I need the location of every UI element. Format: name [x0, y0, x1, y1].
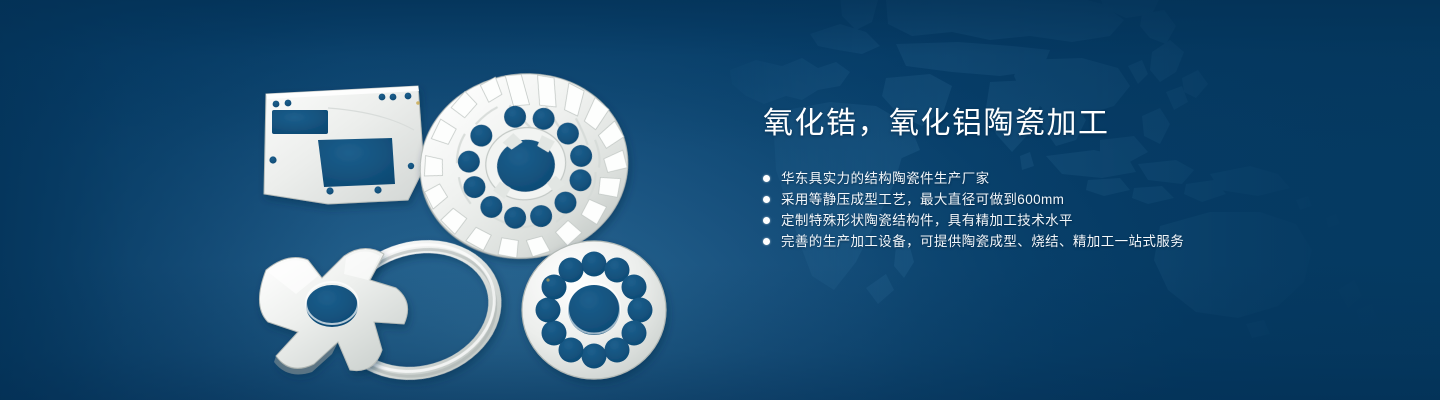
list-item: 华东具实力的结构陶瓷件生产厂家: [763, 168, 1323, 189]
feature-list: 华东具实力的结构陶瓷件生产厂家 采用等静压成型工艺，最大直径可做到600mm 定…: [763, 168, 1323, 252]
bullet-dot-icon: [763, 217, 770, 224]
ceramic-perforated-disc: [522, 241, 666, 381]
list-item-label: 完善的生产加工设备，可提供陶瓷成型、烧结、精加工一站式服务: [781, 231, 1184, 252]
ceramic-vaned-impeller-disc: [408, 60, 640, 271]
bullet-dot-icon: [763, 175, 770, 182]
ceramic-flat-plate: [264, 86, 424, 204]
ceramic-cross-shaped-part: [259, 248, 407, 374]
list-item-label: 华东具实力的结构陶瓷件生产厂家: [781, 168, 990, 189]
bullet-dot-icon: [763, 238, 770, 245]
list-item: 完善的生产加工设备，可提供陶瓷成型、烧结、精加工一站式服务: [763, 231, 1323, 252]
list-item: 采用等静压成型工艺，最大直径可做到600mm: [763, 189, 1323, 210]
page-title: 氧化锆，氧化铝陶瓷加工: [763, 104, 1323, 144]
list-item: 定制特殊形状陶瓷结构件，具有精加工技术水平: [763, 210, 1323, 231]
banner-copy: 氧化锆，氧化铝陶瓷加工 华东具实力的结构陶瓷件生产厂家 采用等静压成型工艺，最大…: [763, 104, 1323, 252]
ceramic-products-image: [232, 42, 702, 390]
bullet-dot-icon: [763, 196, 770, 203]
list-item-label: 采用等静压成型工艺，最大直径可做到600mm: [781, 189, 1064, 210]
list-item-label: 定制特殊形状陶瓷结构件，具有精加工技术水平: [781, 210, 1073, 231]
hero-banner: 氧化锆，氧化铝陶瓷加工 华东具实力的结构陶瓷件生产厂家 采用等静压成型工艺，最大…: [0, 0, 1440, 400]
